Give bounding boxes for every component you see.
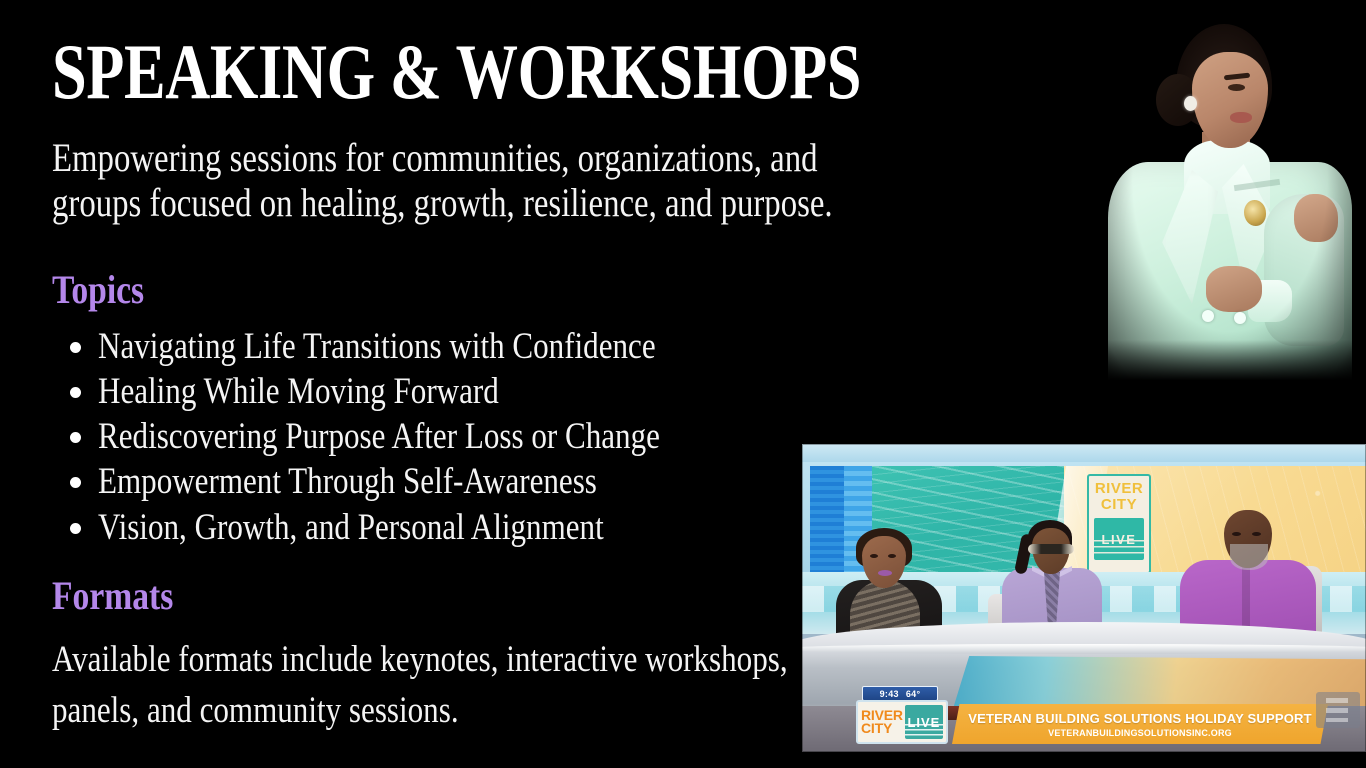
list-item: Vision, Growth, and Personal Alignment (52, 505, 842, 550)
wall-logo-live-label: LIVE (1102, 532, 1137, 547)
topic-label: Navigating Life Transitions with Confide… (98, 324, 656, 369)
slide-subtitle: Empowering sessions for communities, org… (52, 136, 842, 226)
formats-heading: Formats (52, 576, 716, 616)
formats-body-text: Available formats include keynotes, inte… (52, 634, 848, 736)
logo-live-label: LIVE (907, 715, 940, 730)
photo-bottom-fade (1098, 340, 1362, 386)
studio-photo-border (802, 444, 1366, 752)
topics-heading: Topics (52, 270, 716, 310)
list-item: Navigating Life Transitions with Confide… (52, 324, 842, 369)
speaker-portrait-photo (1098, 12, 1362, 386)
list-item: Healing While Moving Forward (52, 369, 842, 414)
list-item: Rediscovering Purpose After Loss or Chan… (52, 414, 842, 459)
topic-label: Empowerment Through Self-Awareness (98, 459, 597, 504)
slide-content: SPEAKING & WORKSHOPS Empowering sessions… (52, 34, 842, 736)
page-title: SPEAKING & WORKSHOPS (52, 34, 684, 110)
topic-label: Vision, Growth, and Personal Alignment (98, 505, 604, 550)
presentation-slide: SPEAKING & WORKSHOPS Empowering sessions… (0, 0, 1366, 768)
tv-studio-photo: RIVER CITY LIVE (802, 444, 1366, 752)
topic-label: Healing While Moving Forward (98, 369, 499, 414)
topic-label: Rediscovering Purpose After Loss or Chan… (98, 414, 660, 459)
list-item: Empowerment Through Self-Awareness (52, 459, 842, 504)
topics-list: Navigating Life Transitions with Confide… (52, 324, 842, 550)
photo-vignette (1098, 12, 1362, 386)
